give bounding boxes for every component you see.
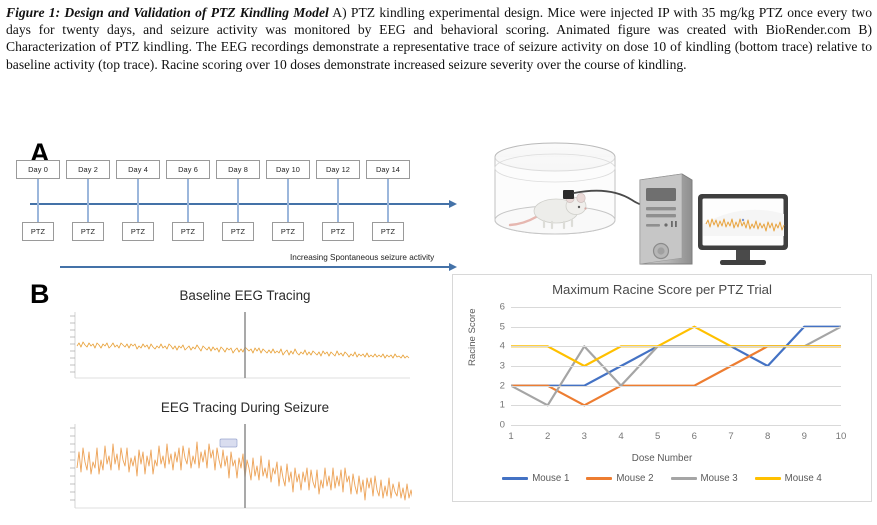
legend-item-mouse-4[interactable]: Mouse 4 [755, 473, 822, 484]
x-tick-label: 9 [802, 431, 807, 442]
legend-label: Mouse 1 [532, 473, 569, 484]
legend-swatch [502, 477, 528, 480]
figure-title: Design and Validation of PTZ Kindling Mo… [64, 5, 328, 20]
timeline-stem-upper [287, 179, 289, 204]
computer-tower [640, 174, 692, 264]
legend-item-mouse-2[interactable]: Mouse 2 [586, 473, 653, 484]
x-tick-label: 7 [728, 431, 733, 442]
baseline-eeg-plot [57, 310, 412, 380]
gridline [511, 386, 841, 387]
timeline-stem-upper [87, 179, 89, 204]
racine-score-chart: Maximum Racine Score per PTZ Trial Racin… [452, 274, 872, 502]
progression-label: Increasing Spontaneous seizure activity [290, 253, 434, 262]
timeline-day-box: Day 0 [16, 160, 60, 179]
panel-b-letter: B [30, 281, 50, 308]
timeline-ptz-box: PTZ [122, 222, 154, 241]
legend-label: Mouse 2 [616, 473, 653, 484]
timeline-stem-upper [387, 179, 389, 204]
timeline-ptz-box: PTZ [172, 222, 204, 241]
x-tick-label: 2 [545, 431, 550, 442]
gridline [511, 405, 841, 406]
series-line-mouse-2 [511, 346, 841, 405]
y-tick-label: 3 [500, 361, 505, 372]
timeline-stem-lower [337, 204, 339, 223]
timeline-stem-lower [287, 204, 289, 223]
chart-plot-area: 0123456 12345678910 [511, 307, 841, 425]
gridline [511, 425, 841, 426]
timeline-ptz-box: PTZ [272, 222, 304, 241]
timeline-stem-upper [37, 179, 39, 204]
chart-y-axis-label: Racine Score [467, 308, 478, 366]
x-tick-label: 10 [836, 431, 847, 442]
legend-label: Mouse 3 [701, 473, 738, 484]
timeline-stem-lower [37, 204, 39, 223]
timeline-day-box: Day 10 [266, 160, 310, 179]
baseline-eeg-title: Baseline EEG Tracing [75, 288, 415, 303]
y-tick-label: 1 [500, 400, 505, 411]
legend-item-mouse-1[interactable]: Mouse 1 [502, 473, 569, 484]
legend-swatch [586, 477, 612, 480]
timeline-stem-upper [237, 179, 239, 204]
y-tick-label: 6 [500, 302, 505, 313]
gridline [511, 307, 841, 308]
timeline-ptz-box: PTZ [372, 222, 404, 241]
legend-swatch [671, 477, 697, 480]
headmount [563, 190, 574, 199]
y-tick-label: 5 [500, 321, 505, 332]
legend-label: Mouse 4 [785, 473, 822, 484]
timeline-ptz-box: PTZ [222, 222, 254, 241]
x-tick-label: 8 [765, 431, 770, 442]
timeline-stem-lower [187, 204, 189, 223]
gridline [511, 366, 841, 367]
timeline-ptz-box: PTZ [322, 222, 354, 241]
baseline-trace [77, 342, 409, 358]
timeline-day-box: Day 6 [166, 160, 210, 179]
timeline-ptz-box: PTZ [22, 222, 54, 241]
timeline-stem-upper [137, 179, 139, 204]
x-tick-label: 6 [692, 431, 697, 442]
figure-caption: Figure 1: Design and Validation of PTZ K… [6, 4, 872, 73]
chart-title: Maximum Racine Score per PTZ Trial [453, 282, 871, 297]
y-tick-label: 0 [500, 420, 505, 431]
x-tick-label: 4 [618, 431, 623, 442]
progression-arrow [60, 266, 450, 268]
y-tick-label: 2 [500, 380, 505, 391]
chart-legend: Mouse 1Mouse 2Mouse 3Mouse 4 [453, 473, 871, 484]
timeline-day-box: Day 4 [116, 160, 160, 179]
legend-item-mouse-3[interactable]: Mouse 3 [671, 473, 738, 484]
timeline-day-box: Day 8 [216, 160, 260, 179]
timeline-stem-lower [237, 204, 239, 223]
x-tick-label: 5 [655, 431, 660, 442]
timeline-stem-lower [137, 204, 139, 223]
seizure-eeg-plot [57, 422, 412, 512]
chart-x-axis-label: Dose Number [453, 453, 871, 464]
seizure-eeg-title: EEG Tracing During Seizure [75, 400, 415, 415]
timeline-stem-lower [87, 204, 89, 223]
y-tick-label: 4 [500, 341, 505, 352]
figure-label: Figure 1: [6, 5, 60, 20]
gridline [511, 346, 841, 347]
timeline-day-box: Day 14 [366, 160, 410, 179]
timeline-ptz-box: PTZ [72, 222, 104, 241]
timeline-day-box: Day 2 [66, 160, 110, 179]
gridline [511, 327, 841, 328]
panel-a-timeline: Day 0PTZDay 2PTZDay 4PTZDay 6PTZDay 8PTZ… [30, 160, 460, 255]
legend-swatch [755, 477, 781, 480]
progression-arrow-wrap [30, 262, 460, 274]
timeline-stem-upper [187, 179, 189, 204]
experimental-setup-illustration [480, 132, 872, 272]
timeline-stem-lower [387, 204, 389, 223]
eeg-monitor [698, 194, 788, 265]
x-tick-label: 3 [582, 431, 587, 442]
timeline-day-box: Day 12 [316, 160, 360, 179]
seizure-annotation-marker [220, 439, 237, 447]
timeline-stem-upper [337, 179, 339, 204]
x-tick-label: 1 [508, 431, 513, 442]
